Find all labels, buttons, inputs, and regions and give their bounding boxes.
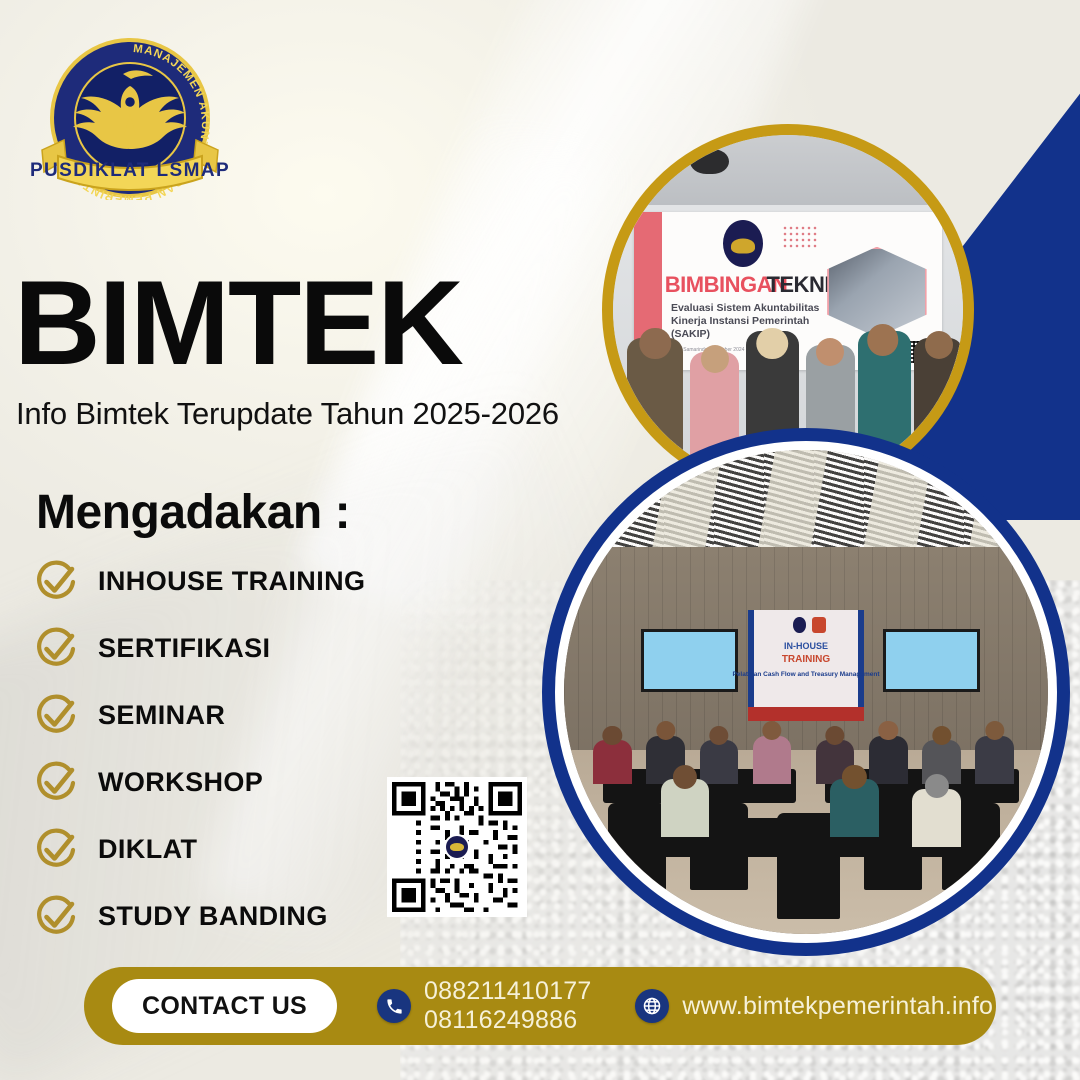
qr-code-image[interactable] bbox=[387, 777, 527, 917]
offer-item-label: INHOUSE TRAINING bbox=[98, 566, 365, 597]
list-item: SEMINAR bbox=[34, 682, 504, 749]
offer-item-label: DIKLAT bbox=[98, 834, 197, 865]
offer-item-label: WORKSHOP bbox=[98, 767, 263, 798]
contact-us-button[interactable]: CONTACT US bbox=[112, 979, 337, 1033]
contact-us-label: CONTACT US bbox=[142, 992, 307, 1021]
offer-item-label: SEMINAR bbox=[98, 700, 225, 731]
offer-item-label: SERTIFIKASI bbox=[98, 633, 270, 664]
list-item: SERTIFIKASI bbox=[34, 615, 504, 682]
page-title: BIMTEK bbox=[14, 268, 462, 378]
contact-bar: CONTACT US 088211410177 08116249886 bbox=[84, 967, 996, 1045]
stage-banner-subtitle: Pelatihan Cash Flow and Treasury Managem… bbox=[732, 671, 879, 678]
svg-text:PUSDIKLAT LSMAP: PUSDIKLAT LSMAP bbox=[30, 160, 230, 181]
phone-contact-group[interactable]: 088211410177 08116249886 bbox=[377, 977, 591, 1035]
offer-item-label: STUDY BANDING bbox=[98, 901, 328, 932]
check-circle-icon bbox=[34, 828, 78, 872]
check-circle-icon bbox=[34, 627, 78, 671]
phone-icon bbox=[377, 989, 411, 1023]
check-circle-icon bbox=[34, 694, 78, 738]
phone-number-primary: 088211410177 bbox=[424, 977, 591, 1006]
stage-banner-title-secondary: TRAINING bbox=[782, 654, 830, 665]
training-room-photo-image: IN-HOUSE TRAINING Pelatihan Cash Flow an… bbox=[542, 428, 1070, 956]
check-circle-icon bbox=[34, 761, 78, 805]
page-subtitle: Info Bimtek Terupdate Tahun 2025-2026 bbox=[16, 396, 559, 432]
phone-numbers: 088211410177 08116249886 bbox=[424, 977, 591, 1035]
list-item: INHOUSE TRAINING bbox=[34, 548, 504, 615]
check-circle-icon bbox=[34, 895, 78, 939]
stage-banner-title-primary: IN-HOUSE bbox=[784, 641, 828, 651]
lsmap-logo: LEMBAGA STUDI MANAJEMEN AKUNTANSI DAN PE… bbox=[24, 28, 236, 200]
poster-canvas: LEMBAGA STUDI MANAJEMEN AKUNTANSI DAN PE… bbox=[0, 0, 1080, 1080]
phone-number-secondary: 08116249886 bbox=[424, 1006, 591, 1035]
qr-center-logo bbox=[444, 834, 470, 860]
website-contact-group[interactable]: www.bimtekpemerintah.info bbox=[635, 989, 993, 1023]
website-url: www.bimtekpemerintah.info bbox=[682, 992, 993, 1021]
offer-section-title: Mengadakan : bbox=[36, 485, 350, 540]
check-circle-icon bbox=[34, 560, 78, 604]
globe-icon bbox=[635, 989, 669, 1023]
